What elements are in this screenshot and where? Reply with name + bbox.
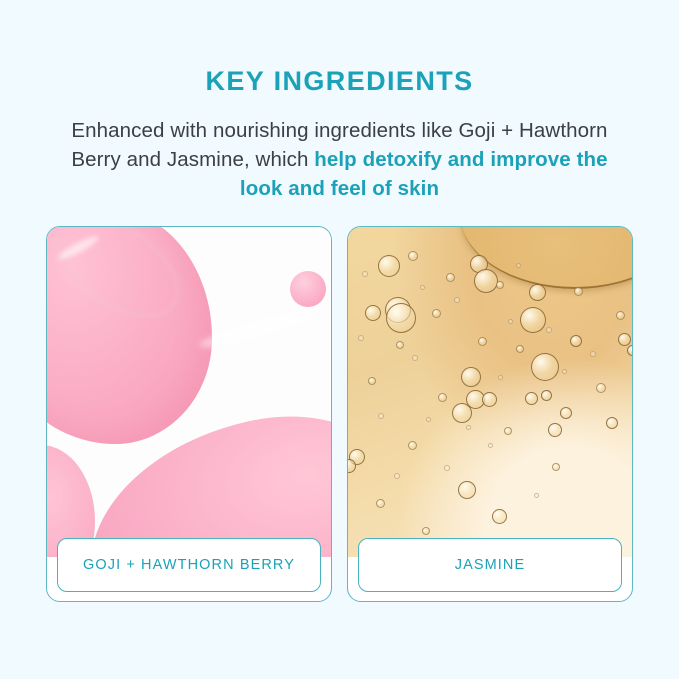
bubble <box>362 271 368 277</box>
bubble <box>531 353 559 381</box>
bubble <box>508 319 513 324</box>
bubble <box>432 309 441 318</box>
bubble <box>408 441 417 450</box>
ingredient-card-jasmine[interactable]: JASMINE <box>347 226 633 602</box>
bubble <box>618 333 631 346</box>
bubble <box>461 367 481 387</box>
bubble <box>422 527 430 535</box>
bubble <box>525 392 538 405</box>
bubble <box>606 417 618 429</box>
bubble <box>454 297 460 303</box>
bubble <box>496 281 504 289</box>
bubble <box>378 255 400 277</box>
bubble <box>504 427 512 435</box>
bubble <box>546 327 552 333</box>
bubble <box>446 273 455 282</box>
bubble <box>541 390 552 401</box>
bubble <box>458 481 476 499</box>
bubble <box>412 355 418 361</box>
bubble <box>452 403 472 423</box>
bubble <box>368 377 376 385</box>
ingredient-card-list: GOJI + HAWTHORN BERRY <box>46 226 633 602</box>
bubble <box>562 369 567 374</box>
bubble <box>492 509 507 524</box>
bubble <box>516 345 524 353</box>
bubble <box>444 465 450 471</box>
pink-blob-small-dot <box>290 271 326 307</box>
goji-image <box>47 227 331 557</box>
bubble <box>376 499 385 508</box>
bubble <box>529 284 546 301</box>
bubble <box>560 407 572 419</box>
bubble <box>408 251 418 261</box>
bubble <box>520 307 546 333</box>
page-title: KEY INGREDIENTS <box>0 64 679 98</box>
bubble <box>498 375 503 380</box>
jasmine-image <box>348 227 632 557</box>
bubble <box>358 335 364 341</box>
bubble <box>426 417 431 422</box>
bubble <box>616 311 625 320</box>
bubble <box>394 473 400 479</box>
bubble <box>474 269 498 293</box>
bubble <box>478 337 487 346</box>
bubble <box>396 341 404 349</box>
ingredient-card-label-goji: GOJI + HAWTHORN BERRY <box>57 538 321 592</box>
bubble <box>534 493 539 498</box>
bubble <box>590 351 596 357</box>
bubble <box>516 263 521 268</box>
bubble <box>570 335 582 347</box>
ingredient-card-goji[interactable]: GOJI + HAWTHORN BERRY <box>46 226 332 602</box>
bubble <box>596 383 606 393</box>
bubble <box>627 345 632 356</box>
bubble <box>574 287 583 296</box>
bubble <box>378 413 384 419</box>
bubble <box>552 463 560 471</box>
bubble <box>488 443 493 448</box>
bubble <box>438 393 447 402</box>
ingredient-card-label-jasmine: JASMINE <box>358 538 622 592</box>
bubble <box>548 423 562 437</box>
bubble <box>420 285 425 290</box>
bubble <box>386 303 416 333</box>
bubble <box>482 392 497 407</box>
key-ingredients-panel: KEY INGREDIENTS Enhanced with nourishing… <box>0 0 679 679</box>
bubble <box>365 305 381 321</box>
bubble <box>466 425 471 430</box>
subtitle: Enhanced with nourishing ingredients lik… <box>60 116 619 203</box>
